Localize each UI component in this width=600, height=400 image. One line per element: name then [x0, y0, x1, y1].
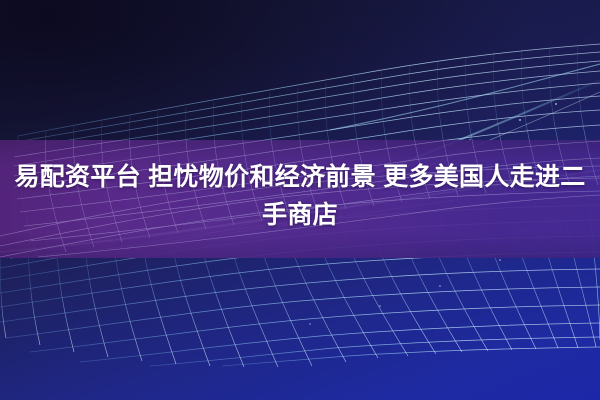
banner-image: 易配资平台 担忧物价和经济前景 更多美国人走进二手商店: [0, 0, 600, 400]
page-title: 易配资平台 担忧物价和经济前景 更多美国人走进二手商店: [0, 158, 600, 234]
